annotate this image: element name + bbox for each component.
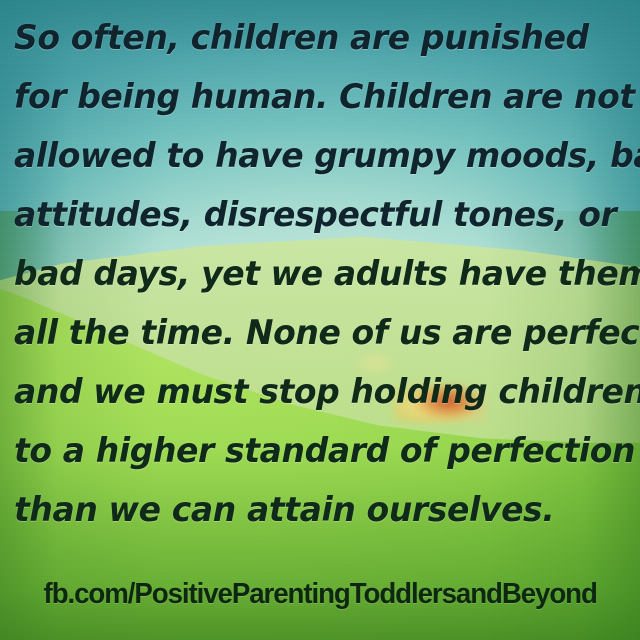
facebook-page-url: fb.com/PositiveParentingToddlersandBeyon…: [43, 578, 596, 611]
quote-line: all the time. None of us are perfect,: [14, 303, 619, 362]
quote-line: than we can attain ourselves.: [14, 480, 619, 539]
quote-line: to a higher standard of perfection: [14, 421, 619, 480]
quote-line: for being human. Children are not: [14, 67, 619, 126]
quote-line: So often, children are punished: [14, 8, 619, 67]
quote-line: allowed to have grumpy moods, bad: [14, 126, 619, 185]
quote-line: and we must stop holding children: [14, 362, 619, 421]
quote-text-block: So often, children are punished for bein…: [0, 0, 640, 539]
quote-poster: So often, children are punished for bein…: [0, 0, 640, 640]
quote-line: bad days, yet we adults have them: [14, 244, 619, 303]
footer-attribution: fb.com/PositiveParentingToddlersandBeyon…: [0, 578, 640, 611]
quote-line: attitudes, disrespectful tones, or: [14, 185, 619, 244]
